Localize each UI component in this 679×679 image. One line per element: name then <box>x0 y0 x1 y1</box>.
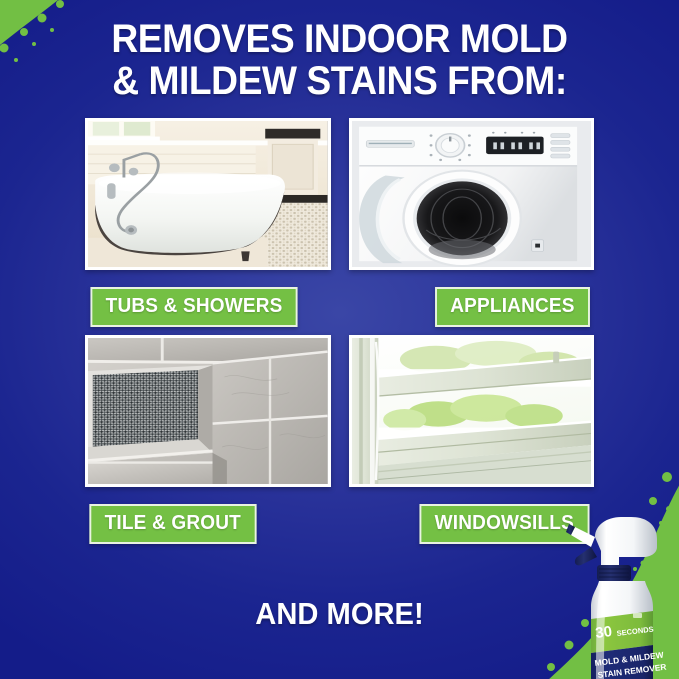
headline: REMOVES INDOOR MOLD & MILDEW STAINS FROM… <box>24 18 655 103</box>
tile-grout-photo <box>85 335 331 487</box>
washing-machine-photo <box>349 118 595 270</box>
headline-line-2: & MILDEW STAINS FROM: <box>55 60 623 102</box>
bathtub-photo <box>85 118 331 270</box>
badge-row-tubs-showers: TUBS & SHOWERS <box>85 287 331 327</box>
card-tubs-showers: TUBS & SHOWERS <box>85 118 331 327</box>
headline-line-1: REMOVES INDOOR MOLD <box>111 17 567 61</box>
badge-row-tile-grout: TILE & GROUT <box>85 504 331 544</box>
badge-appliances[interactable]: APPLIANCES <box>435 287 590 327</box>
product-bottle: 30 SECONDS MOLD & MILDEW STAIN REMOVER <box>557 507 675 679</box>
badge-tubs-showers[interactable]: TUBS & SHOWERS <box>90 287 297 327</box>
badge-tile-grout[interactable]: TILE & GROUT <box>89 504 256 544</box>
card-tile-grout: TILE & GROUT <box>85 335 331 544</box>
badge-row-appliances: APPLIANCES <box>349 287 595 327</box>
infographic-canvas: REMOVES INDOOR MOLD & MILDEW STAINS FROM… <box>0 0 679 679</box>
card-appliances: APPLIANCES <box>349 118 595 327</box>
surface-card-grid: TUBS & SHOWERS <box>0 118 679 544</box>
windowsill-photo <box>349 335 595 487</box>
